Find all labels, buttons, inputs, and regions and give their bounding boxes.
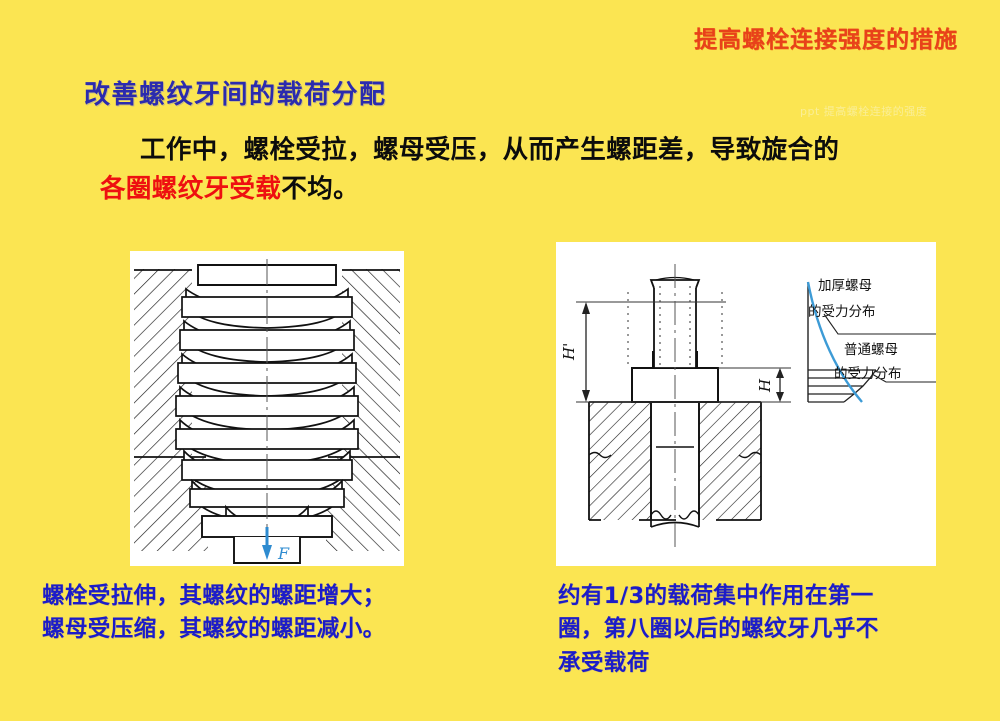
body-line-1: 工作中，螺栓受拉，螺母受压，从而产生螺距差，导致旋合的 <box>140 135 839 165</box>
body-line-2-tail: 不均。 <box>281 174 359 204</box>
body-highlight: 各圈螺纹牙受载 <box>100 174 281 204</box>
annotation-plain-nut: 普通螺母 的受力分布 <box>834 342 902 382</box>
caption-right-line-3: 承受载荷 <box>558 647 958 680</box>
dimension-h <box>776 368 784 402</box>
caption-right: 约有1/3的载荷集中作用在第一 圈，第八圈以后的螺纹牙几乎不 承受载荷 <box>558 580 958 680</box>
caption-right-line-2: 圈，第八圈以后的螺纹牙几乎不 <box>558 613 958 646</box>
section-heading: 改善螺纹牙间的载荷分配 <box>84 74 387 111</box>
annotation-plain-nut-line2: 的受力分布 <box>834 366 902 382</box>
thread-turns <box>176 289 358 524</box>
force-label-F: F <box>277 544 290 563</box>
figure-thread-deformation: F <box>130 251 404 566</box>
dimension-h-prime <box>582 302 590 402</box>
body-paragraph: 工作中，螺栓受拉，螺母受压，从而产生螺距差，导致旋合的 各圈螺纹牙受载不均。 <box>100 131 980 209</box>
caption-left: 螺栓受拉伸，其螺纹的螺距增大； 螺母受压缩，其螺纹的螺距减小。 <box>42 580 512 647</box>
dimension-label-h-prime: H' <box>560 343 578 361</box>
watermark-text: ppt 提高螺栓连接的强度 <box>800 103 927 119</box>
annotation-thick-nut: 加厚螺母 的受力分布 <box>808 278 876 320</box>
slide-canvas: 提高螺栓连接强度的措施 ppt 提高螺栓连接的强度 改善螺纹牙间的载荷分配 工作… <box>0 0 1000 721</box>
dimension-label-h: H <box>756 378 774 393</box>
caption-left-line-1: 螺栓受拉伸，其螺纹的螺距增大； <box>42 580 512 613</box>
figure-load-distribution: H' H <box>556 242 936 566</box>
caption-right-line-1: 约有1/3的载荷集中作用在第一 <box>558 580 958 613</box>
header-title: 提高螺栓连接强度的措施 <box>694 20 958 54</box>
caption-left-line-2: 螺母受压缩，其螺纹的螺距减小。 <box>42 613 512 646</box>
annotation-thick-nut-line2: 的受力分布 <box>808 304 876 320</box>
annotation-plain-nut-line1: 普通螺母 <box>844 342 898 358</box>
annotation-thick-nut-line1: 加厚螺母 <box>818 278 872 294</box>
